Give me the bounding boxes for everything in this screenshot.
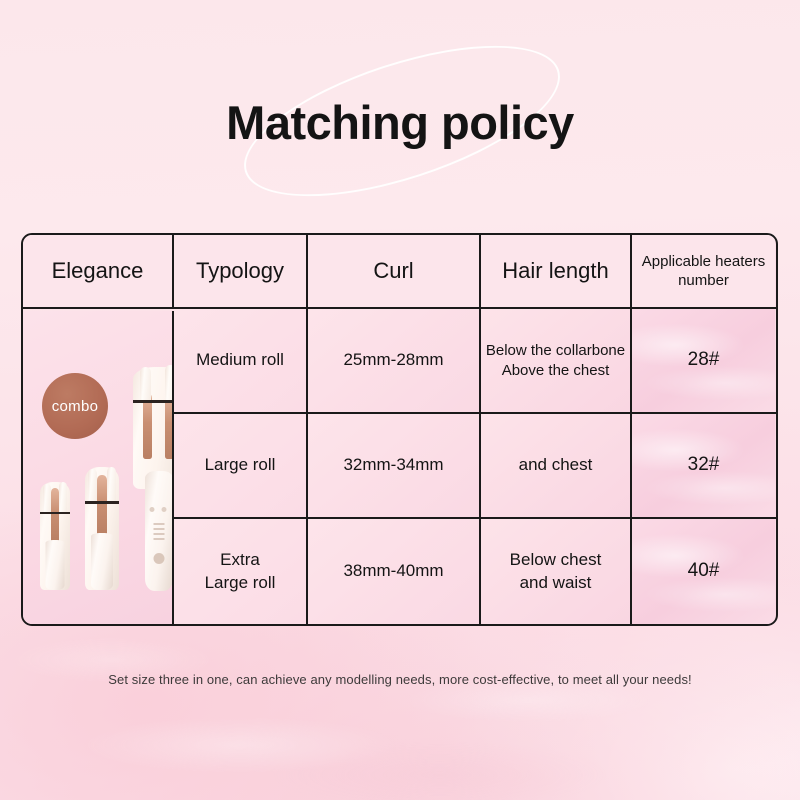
- large-curling-barrel-icon: [133, 367, 174, 591]
- product-image-cell: combo: [23, 311, 174, 626]
- combo-badge: combo: [42, 373, 108, 439]
- header-typology: Typology: [174, 235, 308, 307]
- row-2-heaters: 32#: [632, 414, 775, 517]
- header-hair-length: Hair length: [481, 235, 632, 307]
- row-1-hair-length: Below the collarboneAbove the chest: [481, 309, 632, 412]
- matching-policy-table: Elegance Typology Curl Hair length Appli…: [21, 233, 778, 626]
- row-3-heaters: 40#: [632, 519, 775, 624]
- combo-badge-label: combo: [52, 398, 99, 415]
- header-curl: Curl: [308, 235, 481, 307]
- footer-note: Set size three in one, can achieve any m…: [0, 672, 800, 687]
- row-3-typology: ExtraLarge roll: [174, 519, 308, 624]
- row-1-curl: 25mm-28mm: [308, 309, 481, 412]
- header-applicable-heaters-number: Applicable heaters number: [632, 235, 775, 307]
- row-1-typology: Medium roll: [174, 309, 308, 412]
- title-block: Matching policy: [0, 78, 800, 168]
- small-curling-barrel-icon: [40, 482, 70, 590]
- header-elegance: Elegance: [23, 235, 174, 307]
- medium-curling-barrel-icon: [85, 467, 119, 590]
- row-3-hair-length: Below chestand waist: [481, 519, 632, 624]
- row-2-typology: Large roll: [174, 414, 308, 517]
- row-2-curl: 32mm-34mm: [308, 414, 481, 517]
- row-3-curl: 38mm-40mm: [308, 519, 481, 624]
- row-2-hair-length: and chest: [481, 414, 632, 517]
- page-title: Matching policy: [0, 78, 800, 168]
- row-1-heaters: 28#: [632, 309, 775, 412]
- table-header-row: Elegance Typology Curl Hair length Appli…: [23, 235, 776, 309]
